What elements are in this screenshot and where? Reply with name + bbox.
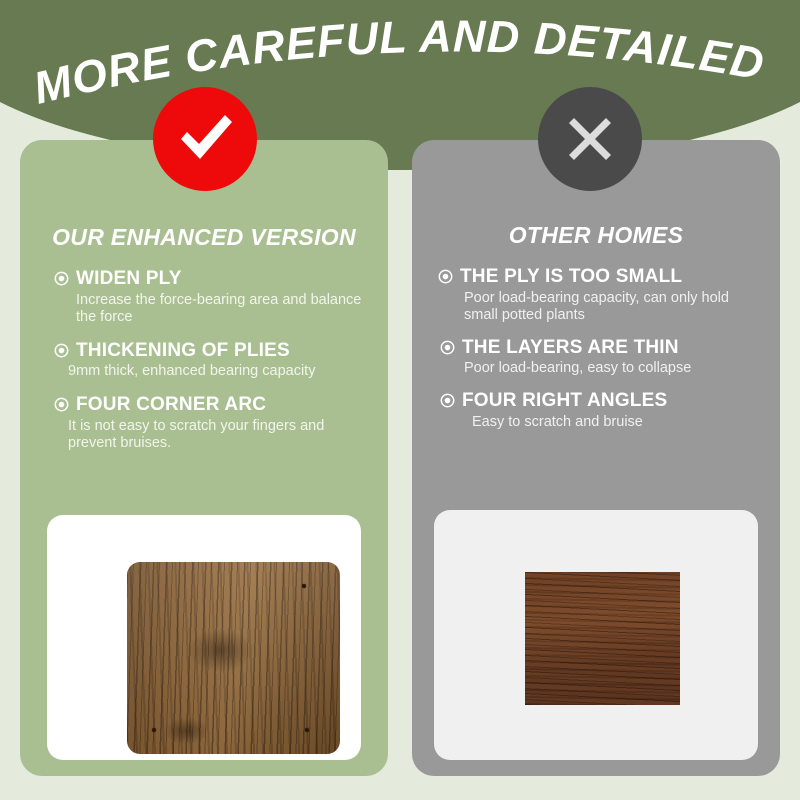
right-feature-1-desc: Poor load-bearing, easy to collapse (412, 358, 780, 377)
wood-square-image (525, 572, 680, 705)
bullet-ring-icon (440, 393, 455, 408)
infographic-root: MORE CAREFUL AND DETAILED OUR ENHANCED V… (0, 0, 800, 800)
cross-badge (538, 87, 642, 191)
list-item: FOUR RIGHT ANGLES Easy to scratch and br… (412, 390, 780, 431)
right-feature-0-label: THE PLY IS TOO SMALL (460, 266, 682, 288)
list-item: THICKENING OF PLIES 9mm thick, enhanced … (20, 340, 388, 381)
right-panel-title: OTHER HOMES (412, 222, 780, 249)
left-feature-0-head: WIDEN PLY (20, 268, 388, 290)
bullet-ring-icon (54, 271, 69, 286)
wood-board-image (127, 562, 340, 754)
panel-our-enhanced-version: OUR ENHANCED VERSION WIDEN PLY Increase … (20, 140, 388, 776)
bullet-ring-icon (54, 343, 69, 358)
left-panel-title: OUR ENHANCED VERSION (20, 224, 388, 251)
right-feature-0-desc: Poor load-bearing capacity, can only hol… (412, 288, 780, 325)
left-feature-2-label: FOUR CORNER ARC (76, 394, 266, 416)
right-feature-2-label: FOUR RIGHT ANGLES (462, 390, 667, 412)
check-icon (175, 111, 235, 167)
left-feature-1-desc: 9mm thick, enhanced bearing capacity (20, 361, 388, 380)
left-feature-1-label: THICKENING OF PLIES (76, 340, 290, 362)
screw-hole-icon (302, 584, 306, 588)
check-badge (153, 87, 257, 191)
list-item: THE LAYERS ARE THIN Poor load-bearing, e… (412, 337, 780, 378)
page-title: MORE CAREFUL AND DETAILED (0, 0, 800, 140)
screw-hole-icon (152, 728, 156, 732)
list-item: THE PLY IS TOO SMALL Poor load-bearing c… (412, 266, 780, 325)
right-feature-list: THE PLY IS TOO SMALL Poor load-bearing c… (412, 266, 780, 443)
right-product-image-card (434, 510, 758, 760)
right-feature-1-head: THE LAYERS ARE THIN (412, 337, 780, 359)
panel-other-homes: OTHER HOMES THE PLY IS TOO SMALL Poor lo… (412, 140, 780, 776)
left-feature-0-label: WIDEN PLY (76, 268, 182, 290)
left-feature-0-desc: Increase the force-bearing area and bala… (20, 290, 388, 327)
left-feature-2-head: FOUR CORNER ARC (20, 394, 388, 416)
list-item: WIDEN PLY Increase the force-bearing are… (20, 268, 388, 327)
list-item: FOUR CORNER ARC It is not easy to scratc… (20, 394, 388, 453)
right-feature-2-head: FOUR RIGHT ANGLES (412, 390, 780, 412)
bullet-ring-icon (54, 397, 69, 412)
left-feature-1-head: THICKENING OF PLIES (20, 340, 388, 362)
cross-icon (565, 114, 615, 164)
right-feature-1-label: THE LAYERS ARE THIN (462, 337, 679, 359)
bullet-ring-icon (440, 340, 455, 355)
bullet-ring-icon (438, 269, 453, 284)
page-title-text: MORE CAREFUL AND DETAILED (29, 11, 769, 114)
left-feature-2-desc: It is not easy to scratch your fingers a… (20, 416, 388, 453)
right-feature-0-head: THE PLY IS TOO SMALL (412, 266, 780, 288)
right-feature-2-desc: Easy to scratch and bruise (412, 412, 780, 431)
left-product-image-card: 23.5cm/9.25in 23.5cm/9.25in (47, 515, 361, 760)
left-feature-list: WIDEN PLY Increase the force-bearing are… (20, 268, 388, 465)
screw-hole-icon (305, 728, 309, 732)
